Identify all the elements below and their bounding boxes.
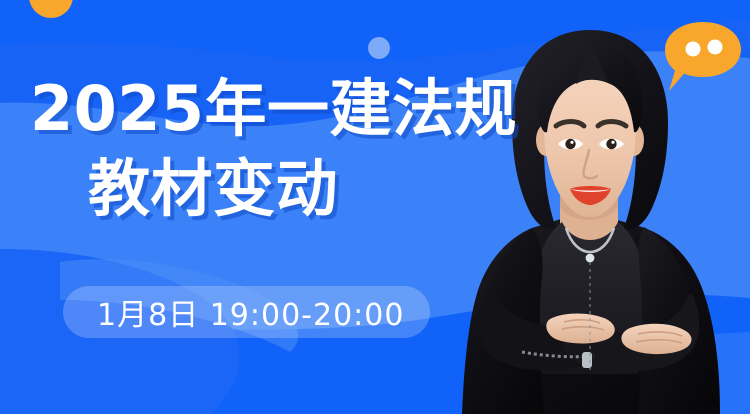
schedule-text: 1月8日 19:00-20:00 [97,290,404,334]
light-blue-dot-icon [368,37,390,59]
promo-banner: 2025年一建法规 教材变动 1月8日 19:00-20:00 [0,0,750,414]
schedule-pill: 1月8日 19:00-20:00 [63,286,430,338]
headline-line-2: 教材变动 [0,158,540,220]
headline-line-1: 2025年一建法规 [0,78,540,140]
headline-block: 2025年一建法规 教材变动 [0,78,540,220]
